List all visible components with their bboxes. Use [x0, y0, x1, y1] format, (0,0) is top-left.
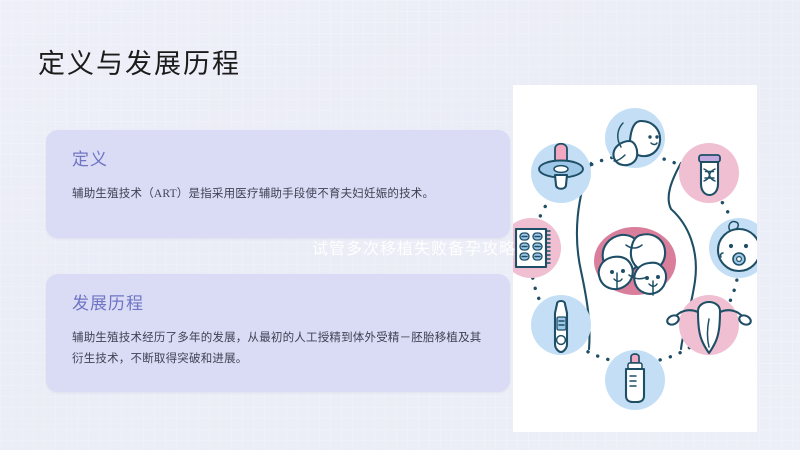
card-body-history: 辅助生殖技术经历了多年的发展，从最初的人工授精到体外受精－胚胎移植及其衍生技术，… — [72, 328, 484, 370]
pregnancy-test-icon[interactable] — [531, 295, 591, 355]
info-card-definition[interactable]: 定义 辅助生殖技术（ART）是指采用医疗辅助手段使不育夫妇妊娠的技术。 — [46, 130, 510, 238]
page-title: 定义与发展历程 — [38, 46, 241, 82]
card-body-definition: 辅助生殖技术（ART）是指采用医疗辅助手段使不育夫妇妊娠的技术。 — [72, 184, 484, 205]
fertility-infographic: .ln { fill:none; stroke:#1f4f66; stroke-… — [513, 85, 757, 432]
baby-bottle-icon[interactable] — [605, 350, 665, 410]
watermark-text: 试管多次移植失败备孕攻略 — [312, 240, 516, 260]
illustration-panel: .ln { fill:none; stroke:#1f4f66; stroke-… — [513, 85, 757, 432]
fetus-icon[interactable] — [605, 108, 665, 168]
info-card-history[interactable]: 发展历程 辅助生殖技术经历了多年的发展，从最初的人工授精到体外受精－胚胎移植及其… — [46, 274, 510, 392]
pacifier-icon[interactable] — [531, 143, 591, 203]
slide-canvas: 定义与发展历程 定义 辅助生殖技术（ART）是指采用医疗辅助手段使不育夫妇妊娠的… — [0, 0, 800, 450]
dna-test-tube-icon[interactable] — [679, 143, 739, 203]
card-heading-definition: 定义 — [72, 148, 484, 172]
card-heading-history: 发展历程 — [72, 292, 484, 316]
